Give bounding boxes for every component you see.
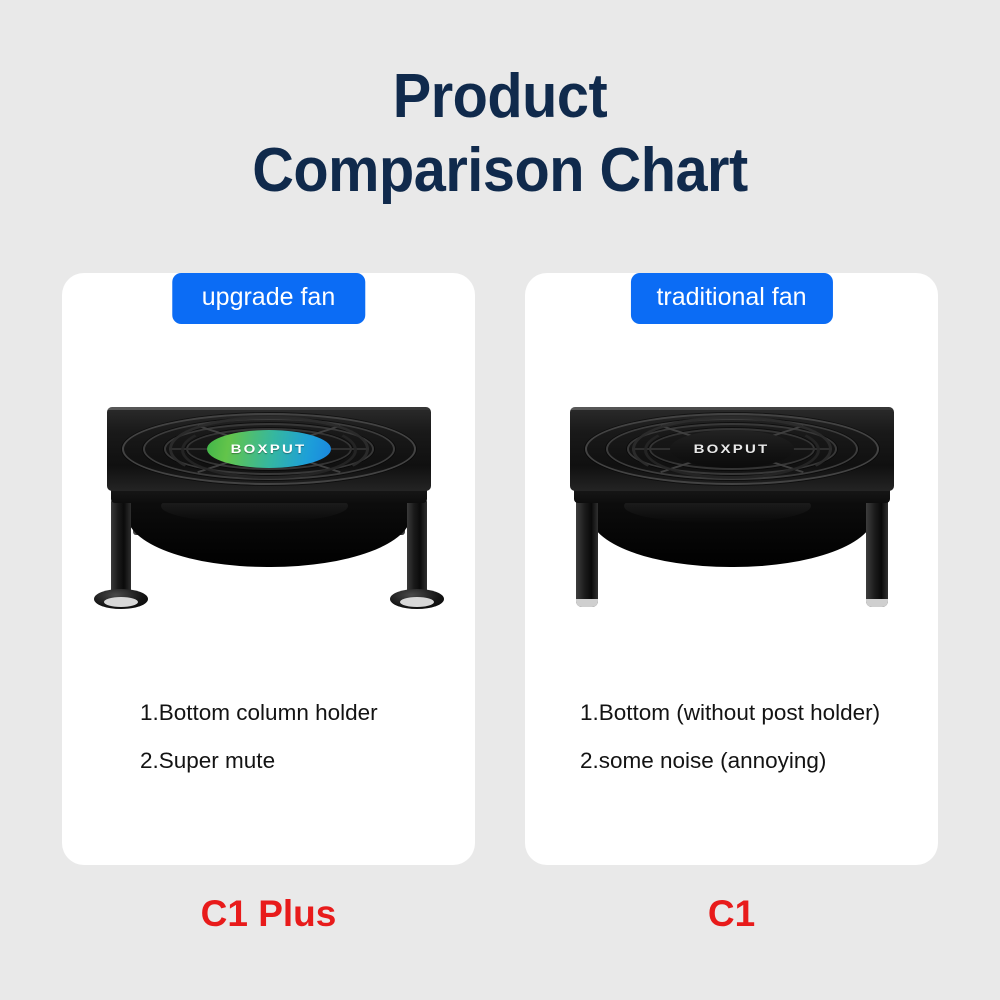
fan-leg-right	[866, 497, 888, 607]
model-label-c1-plus: C1 Plus	[62, 893, 475, 935]
fan-frame: BOXPUT	[107, 407, 431, 491]
fan-leg-tip-right	[866, 599, 888, 607]
fan-grille: BOXPUT	[121, 412, 417, 486]
feature-item: 2.Super mute	[140, 749, 470, 773]
feature-item: 1.Bottom (without post holder)	[580, 701, 935, 725]
model-label-c1: C1	[525, 893, 938, 935]
fan-illustration: BOXPUT	[556, 403, 908, 619]
fan-leg-front-left	[111, 499, 131, 597]
badge-traditional-fan: traditional fan	[630, 273, 832, 324]
page-title-line-1: Product	[35, 66, 965, 128]
product-image-c1-plus: BOXPUT	[62, 403, 475, 633]
comparison-cards: upgrade fan	[62, 273, 938, 865]
page-title: Product Comparison Chart	[0, 66, 1000, 202]
product-card-traditional[interactable]: traditional fan	[525, 273, 938, 865]
fan-wire-guard-bottom	[181, 421, 357, 479]
fan-foot-pad-left	[104, 597, 138, 607]
page-title-line-2: Comparison Chart	[35, 140, 965, 202]
fan-frame: BOXPUT	[570, 407, 894, 491]
fan-illustration: BOXPUT	[93, 403, 445, 619]
comparison-chart-page: Product Comparison Chart upgrade fan	[0, 0, 1000, 1000]
fan-wire-guard-bottom	[644, 421, 820, 479]
fan-leg-tip-left	[576, 599, 598, 607]
feature-list-c1: 1.Bottom (without post holder) 2.some no…	[580, 701, 935, 796]
fan-grille: BOXPUT	[584, 412, 880, 486]
product-image-c1: BOXPUT	[525, 403, 938, 633]
product-card-upgrade[interactable]: upgrade fan	[62, 273, 475, 865]
feature-item: 1.Bottom column holder	[140, 701, 470, 725]
fan-foot-pad-right	[400, 597, 434, 607]
badge-upgrade-fan: upgrade fan	[172, 273, 365, 324]
model-labels: C1 Plus C1	[62, 893, 938, 935]
feature-item: 2.some noise (annoying)	[580, 749, 935, 773]
feature-list-c1-plus: 1.Bottom column holder 2.Super mute	[140, 701, 470, 796]
fan-leg-left	[576, 497, 598, 607]
fan-leg-front-right	[407, 499, 427, 597]
